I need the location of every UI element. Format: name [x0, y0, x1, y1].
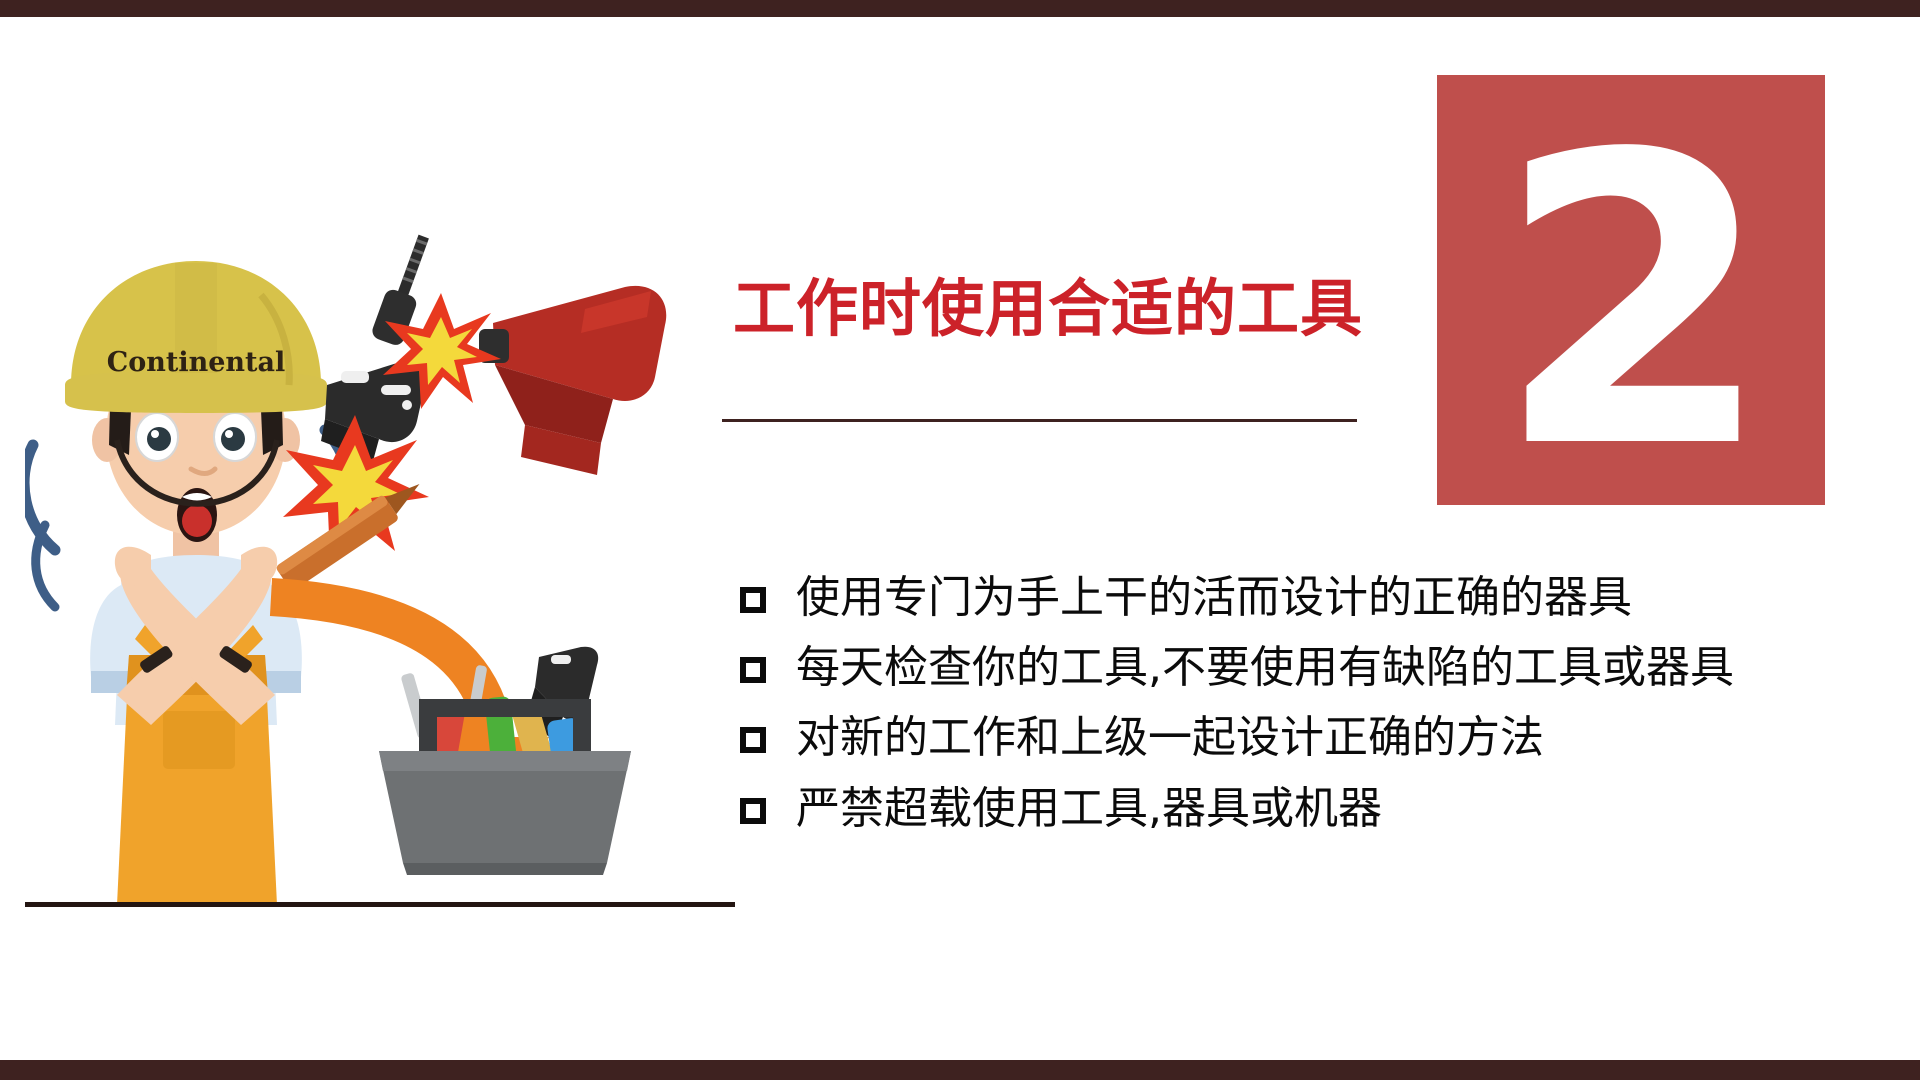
section-number-badge: 2: [1437, 75, 1825, 505]
safety-illustration: Continental: [25, 225, 735, 910]
square-bullet-icon: [740, 727, 766, 753]
list-item: 对新的工作和上级一起设计正确的方法: [740, 715, 1890, 761]
square-bullet-icon: [740, 657, 766, 683]
page-title: 工作时使用合适的工具: [733, 258, 1363, 348]
slide-canvas: 2 工作时使用合适的工具 使用专门为手上干的活而设计的正确的器具 每天检查你的工…: [0, 0, 1920, 1080]
bullet-list: 使用专门为手上干的活而设计的正确的器具 每天检查你的工具,不要使用有缺陷的工具或…: [740, 575, 1890, 856]
list-item-label: 每天检查你的工具,不要使用有缺陷的工具或器具: [796, 645, 1734, 691]
list-item: 严禁超载使用工具,器具或机器: [740, 786, 1890, 832]
top-accent-bar: [0, 0, 1920, 17]
list-item-label: 严禁超载使用工具,器具或机器: [796, 786, 1382, 832]
square-bullet-icon: [740, 798, 766, 824]
list-item-label: 对新的工作和上级一起设计正确的方法: [796, 715, 1544, 761]
section-number-text: 2: [1495, 140, 1767, 468]
svg-text:Continental: Continental: [107, 347, 286, 378]
list-item: 使用专门为手上干的活而设计的正确的器具: [740, 575, 1890, 621]
illustration-underline: [25, 902, 735, 907]
list-item: 每天检查你的工具,不要使用有缺陷的工具或器具: [740, 645, 1890, 691]
square-bullet-icon: [740, 587, 766, 613]
bottom-accent-bar: [0, 1060, 1920, 1080]
title-divider: [722, 419, 1357, 422]
list-item-label: 使用专门为手上干的活而设计的正确的器具: [796, 575, 1632, 621]
